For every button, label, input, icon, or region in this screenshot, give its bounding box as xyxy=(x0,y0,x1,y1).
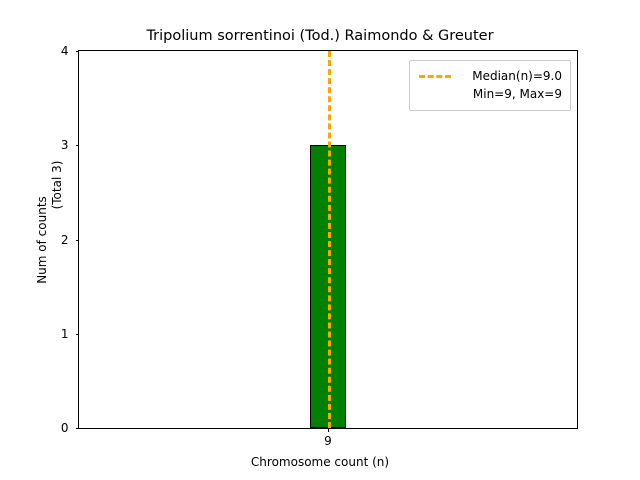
y-tick-0: 0 xyxy=(76,428,80,429)
median-line xyxy=(328,51,331,428)
y-axis-label-total: (Total 3) xyxy=(50,161,64,210)
x-axis-label: Chromosome count (n) xyxy=(0,455,640,469)
y-tick-label-3: 3 xyxy=(61,138,69,152)
y-tick-label-4: 4 xyxy=(61,44,69,58)
y-tick-label-1: 1 xyxy=(61,327,69,341)
y-tick-4: 4 xyxy=(76,51,80,52)
legend-median-label: Median(n)=9.0 xyxy=(472,67,562,85)
y-tick-3: 3 xyxy=(76,145,80,146)
y-axis-label-primary: Num of counts xyxy=(35,196,49,284)
chart-title: Tripolium sorrentinoi (Tod.) Raimondo & … xyxy=(0,28,640,44)
y-tick-2: 2 xyxy=(76,240,80,241)
legend-entry-texts: Median(n)=9.0 Min=9, Max=9 xyxy=(460,67,562,103)
legend-entry-median: Median(n)=9.0 Min=9, Max=9 xyxy=(418,67,562,103)
x-tick-label-9: 9 xyxy=(324,434,332,448)
y-tick-1: 1 xyxy=(76,334,80,335)
chart-figure: Tripolium sorrentinoi (Tod.) Raimondo & … xyxy=(0,0,640,480)
legend: Median(n)=9.0 Min=9, Max=9 xyxy=(409,60,571,111)
y-tick-label-2: 2 xyxy=(61,233,69,247)
x-tick-9 xyxy=(328,428,329,432)
legend-minmax-label: Min=9, Max=9 xyxy=(473,85,562,103)
y-tick-label-0: 0 xyxy=(61,421,69,435)
dashed-line-icon xyxy=(418,67,452,85)
